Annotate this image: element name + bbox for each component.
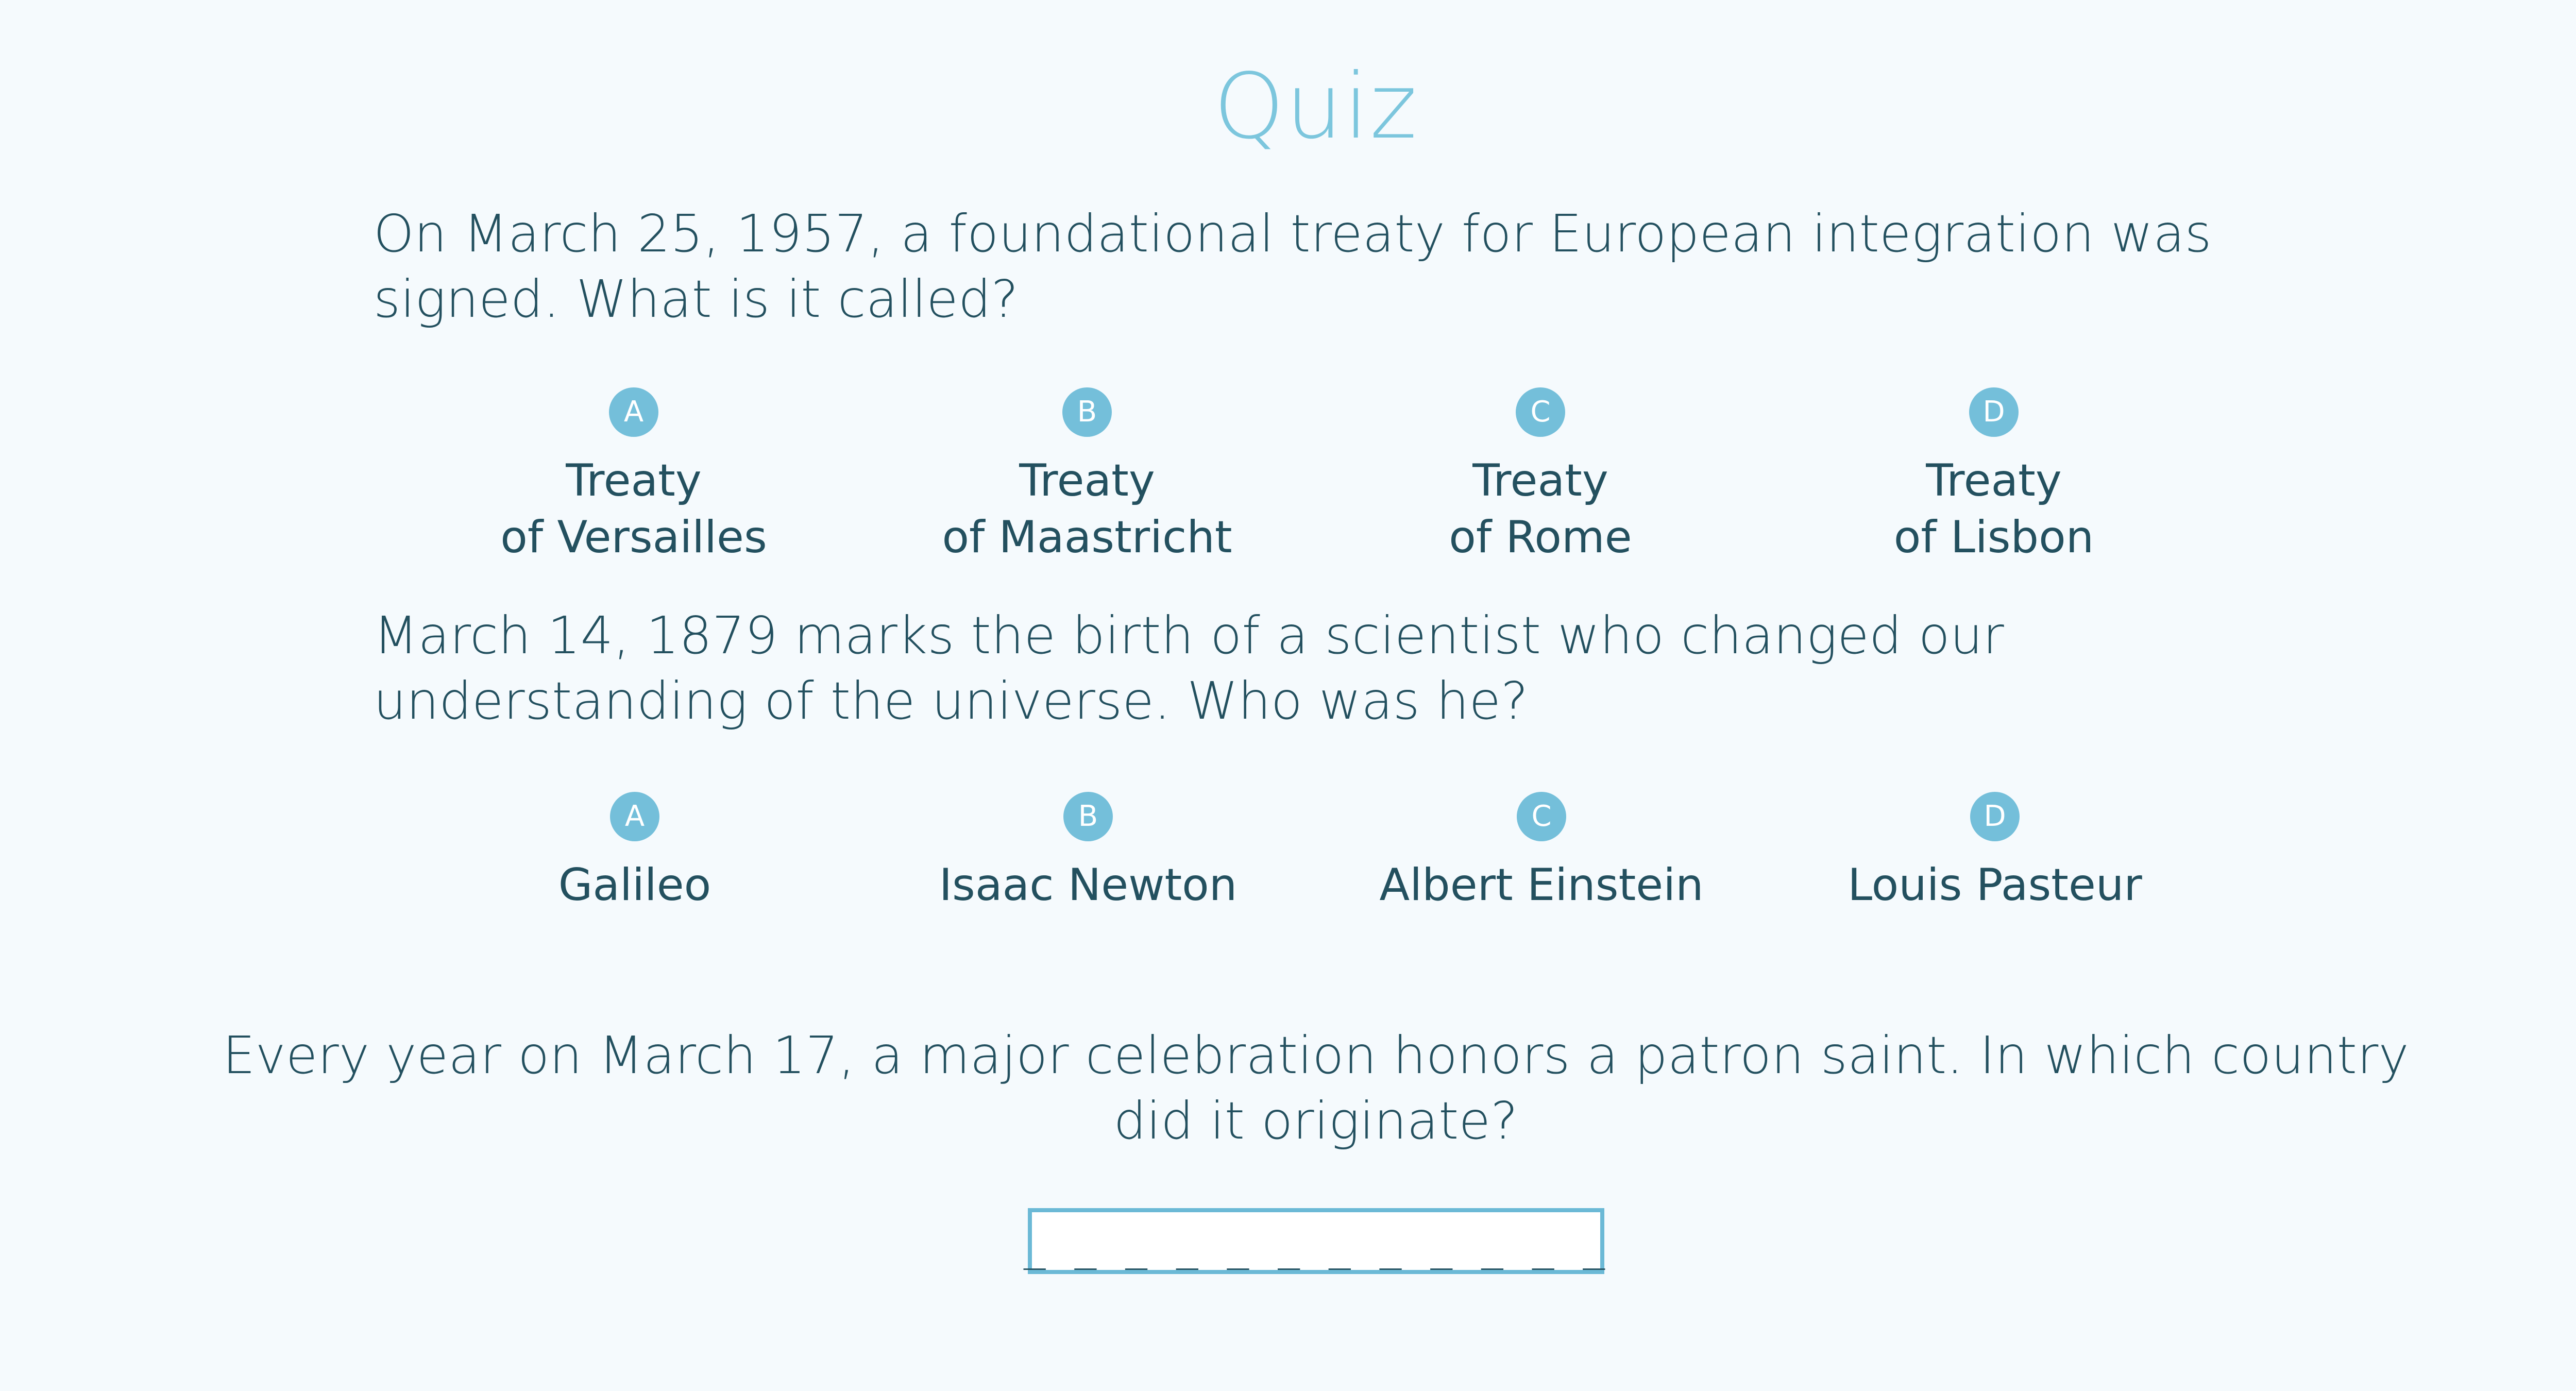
quiz-page: Quiz On March 25, 1957, a foundational t… <box>0 0 2576 1391</box>
option-q1-d[interactable]: D Treaty of Lisbon <box>1767 387 2221 566</box>
option-q2-b[interactable]: B Isaac Newton <box>861 792 1315 913</box>
option-label-c: Albert Einstein <box>1379 857 1703 913</box>
option-q1-a[interactable]: A Treaty of Versailles <box>407 387 860 566</box>
question-1-text: On March 25, 1957, a foundational treaty… <box>0 201 2576 332</box>
option-badge-c[interactable]: C <box>1516 387 1565 437</box>
option-q2-a[interactable]: A Galileo <box>408 792 861 913</box>
option-q1-c[interactable]: C Treaty of Rome <box>1314 387 1767 566</box>
option-q2-c[interactable]: C Albert Einstein <box>1315 792 1768 913</box>
option-label-b: Treaty of Maastricht <box>942 452 1232 566</box>
option-badge-d[interactable]: D <box>1969 387 2019 437</box>
option-label-d: Treaty of Lisbon <box>1894 452 2094 566</box>
answer-input-box[interactable]: _ _ _ _ _ _ _ _ _ _ _ _ <box>1028 1208 1604 1274</box>
question-2-text: March 14, 1879 marks the birth of a scie… <box>0 603 2576 734</box>
page-title: Quiz <box>0 62 2576 152</box>
option-label-a: Galileo <box>558 857 711 913</box>
option-badge-a[interactable]: A <box>609 387 658 437</box>
option-q1-b[interactable]: B Treaty of Maastricht <box>860 387 1314 566</box>
answer-input-area: _ _ _ _ _ _ _ _ _ _ _ _ <box>0 1208 2576 1274</box>
question-2-options: A Galileo B Isaac Newton C Albert Einste… <box>0 792 2576 913</box>
option-label-a: Treaty of Versailles <box>500 452 767 566</box>
option-badge-a[interactable]: A <box>610 792 659 841</box>
question-1-block: On March 25, 1957, a foundational treaty… <box>0 201 2576 332</box>
option-label-d: Louis Pasteur <box>1848 857 2142 913</box>
option-badge-d[interactable]: D <box>1970 792 2020 841</box>
option-label-c: Treaty of Rome <box>1449 452 1632 566</box>
question-2-block: March 14, 1879 marks the birth of a scie… <box>0 603 2576 734</box>
option-q2-d[interactable]: D Louis Pasteur <box>1768 792 2222 913</box>
option-badge-c[interactable]: C <box>1517 792 1566 841</box>
question-3-text: Every year on March 17, a major celebrat… <box>0 1023 2576 1153</box>
option-badge-b[interactable]: B <box>1062 387 1112 437</box>
option-badge-b[interactable]: B <box>1063 792 1113 841</box>
question-3-block: Every year on March 17, a major celebrat… <box>0 1023 2576 1153</box>
question-1-options: A Treaty of Versailles B Treaty of Maast… <box>0 387 2576 566</box>
answer-blank-placeholder: _ _ _ _ _ _ _ _ _ _ _ _ <box>1024 1230 1608 1267</box>
option-label-b: Isaac Newton <box>939 857 1238 913</box>
